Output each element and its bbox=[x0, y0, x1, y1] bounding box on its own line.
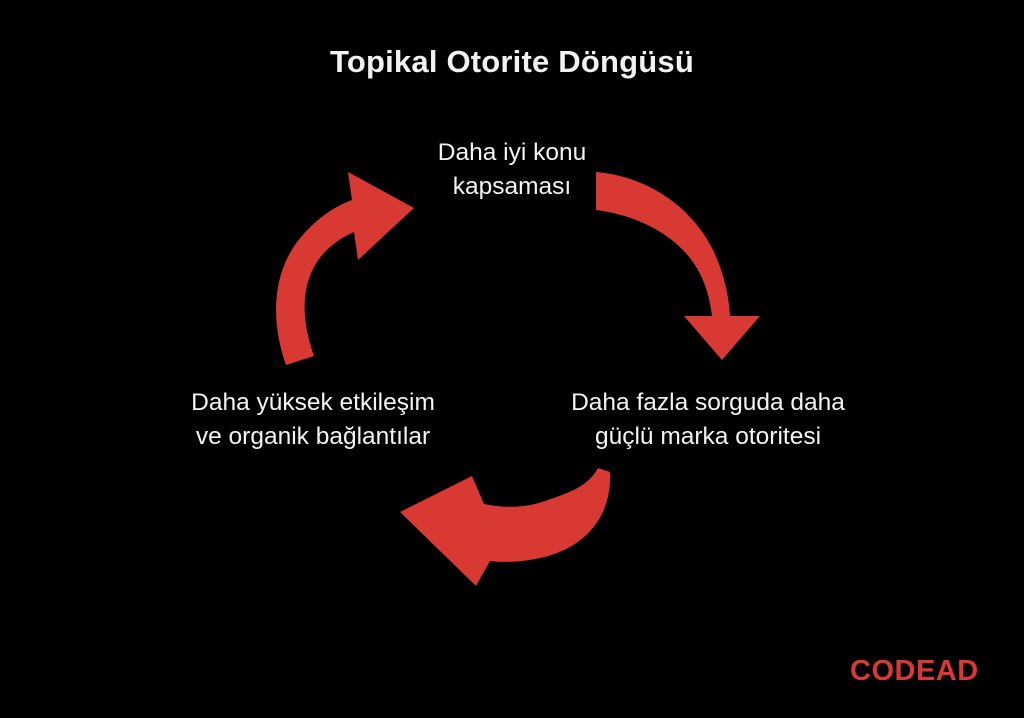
page-title: Topikal Otorite Döngüsü bbox=[0, 44, 1024, 80]
diagram-canvas: Topikal Otorite Döngüsü Daha iyi konu ka… bbox=[0, 0, 1024, 718]
curved-arrow-down-icon bbox=[588, 160, 768, 370]
curved-arrow-up-right-icon bbox=[262, 160, 422, 370]
codead-logo: CODEAD bbox=[850, 655, 979, 688]
curved-arrow-left-icon bbox=[396, 462, 616, 592]
cycle-node-label-left: Daha yüksek etkileşim ve organik bağlant… bbox=[153, 386, 473, 454]
cycle-node-label-right: Daha fazla sorguda daha güçlü marka otor… bbox=[548, 386, 868, 454]
